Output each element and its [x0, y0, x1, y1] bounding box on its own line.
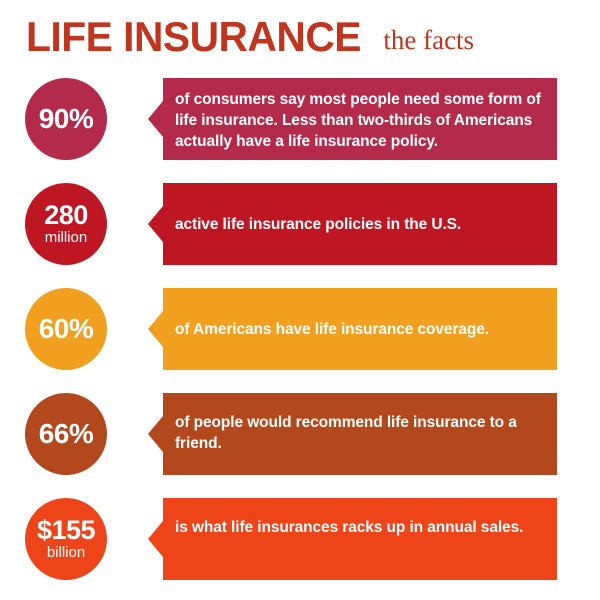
fact-description: of Americans have life insurance coverag… — [163, 319, 503, 340]
fact-row: 90%of consumers say most people need som… — [0, 78, 600, 183]
infographic-header: LIFE INSURANCE the facts — [26, 14, 474, 60]
fact-stat-unit: billion — [47, 545, 85, 562]
fact-stat-circle: 60% — [25, 288, 107, 370]
fact-stat-circle: 90% — [25, 78, 107, 160]
callout-pointer-icon — [148, 521, 163, 557]
fact-stat-value: 280 — [44, 201, 88, 229]
page-subtitle: the facts — [383, 25, 474, 55]
fact-stat-value: 60% — [39, 314, 94, 343]
fact-stat-circle: 280million — [25, 183, 107, 265]
fact-callout-bar: of Americans have life insurance coverag… — [163, 288, 557, 370]
callout-pointer-icon — [148, 311, 163, 347]
fact-stat-value: 90% — [39, 104, 94, 133]
fact-callout-bar: of consumers say most people need some f… — [163, 78, 557, 160]
fact-row: 60%of Americans have life insurance cove… — [0, 288, 600, 393]
fact-description: of people would recommend life insurance… — [163, 412, 557, 454]
fact-row: 66%of people would recommend life insura… — [0, 393, 600, 498]
fact-stat-circle: $155billion — [25, 498, 107, 580]
fact-description: is what life insurances racks up in annu… — [163, 517, 537, 538]
fact-stat-value: $155 — [37, 516, 95, 544]
callout-pointer-icon — [148, 416, 163, 452]
fact-description: active life insurance policies in the U.… — [163, 214, 475, 235]
fact-callout-bar: active life insurance policies in the U.… — [163, 183, 557, 265]
fact-callout-bar: of people would recommend life insurance… — [163, 393, 557, 475]
fact-description: of consumers say most people need some f… — [163, 89, 557, 152]
fact-stat-circle: 66% — [25, 393, 107, 475]
fact-stat-unit: million — [45, 230, 88, 247]
facts-list: 90%of consumers say most people need som… — [0, 78, 600, 600]
fact-row: $155billionis what life insurances racks… — [0, 498, 600, 600]
callout-pointer-icon — [148, 206, 163, 242]
callout-pointer-icon — [148, 101, 163, 137]
page-title: LIFE INSURANCE — [26, 14, 361, 60]
fact-stat-value: 66% — [39, 419, 94, 448]
fact-callout-bar: is what life insurances racks up in annu… — [163, 498, 557, 580]
fact-row: 280millionactive life insurance policies… — [0, 183, 600, 288]
infographic-canvas: LIFE INSURANCE the facts 90%of consumers… — [0, 0, 600, 600]
